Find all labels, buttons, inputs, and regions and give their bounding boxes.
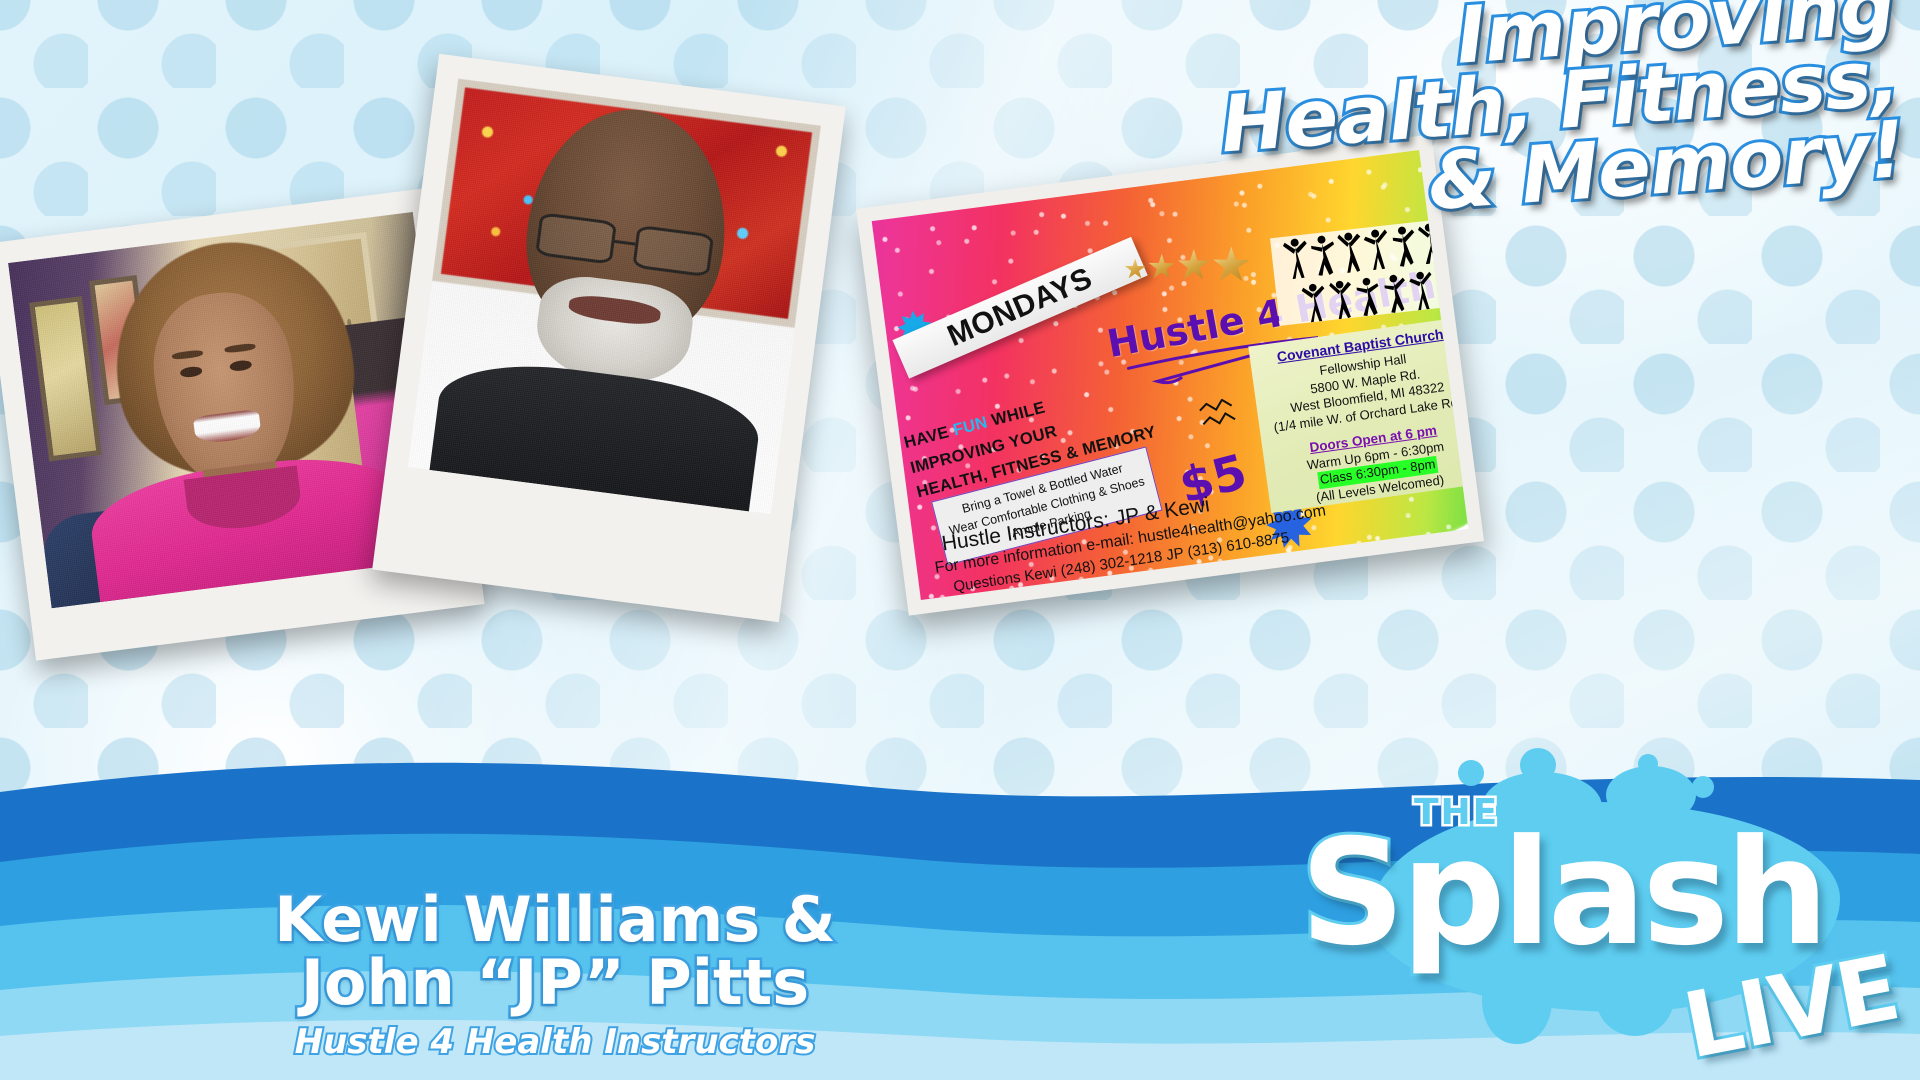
glasses-bridge (614, 240, 635, 246)
jp-photo-image (408, 78, 821, 514)
dancer-icon (1334, 229, 1365, 274)
logo-splash-text: Splash (1300, 808, 1825, 978)
kewi-brow-left (172, 350, 203, 361)
dancer-icon (1326, 278, 1356, 321)
star-rating-icons (1124, 248, 1250, 284)
the-splash-live-logo: THE Splash LIVE (1306, 754, 1906, 1074)
dancer-icon (1388, 223, 1419, 268)
kewi-smile (193, 409, 262, 444)
dancer-icon (1407, 268, 1437, 311)
flyer-canvas: MONDAYS Hustle 4 Health HAVE FUN WHILE I… (872, 150, 1469, 600)
dancer-icon (1307, 232, 1338, 277)
dancer-icon (1361, 226, 1392, 271)
kewi-eye-right (229, 359, 252, 371)
presenter-name-line-1: Kewi Williams & (0, 888, 1110, 951)
lower-third-text: Kewi Williams & John “JP” Pitts Hustle 4… (0, 888, 1110, 1062)
broadcast-graphic-stage: MONDAYS Hustle 4 Health HAVE FUN WHILE I… (0, 0, 1920, 1080)
star-icon (1124, 258, 1146, 280)
dancer-icon (1415, 220, 1446, 265)
presenter-name-line-2: John “JP” Pitts (0, 951, 1110, 1014)
hustle-4-health-flyer: MONDAYS Hustle 4 Health HAVE FUN WHILE I… (856, 134, 1484, 615)
star-icon (1148, 253, 1175, 280)
dancer-icon (1281, 235, 1312, 280)
star-icon (1177, 249, 1210, 282)
kewi-brow-right (224, 343, 255, 354)
fun-word: FUN (951, 413, 989, 439)
splash-droplet (1638, 754, 1658, 774)
john-jp-pitts-photo (372, 54, 846, 622)
dancer-icon (1380, 271, 1410, 314)
splash-droplet (1692, 776, 1714, 798)
wall-art-left (29, 296, 102, 461)
dancer-icon (1353, 275, 1383, 318)
dancer-icon (1299, 281, 1329, 324)
splash-droplet (1520, 748, 1556, 782)
jp-black-shirt (429, 353, 764, 511)
star-icon (1212, 246, 1250, 284)
splash-droplet (1458, 760, 1484, 786)
kewi-eye-left (179, 365, 202, 377)
jp-scene (408, 78, 821, 514)
presenter-subtitle: Hustle 4 Health Instructors (0, 1022, 1110, 1062)
